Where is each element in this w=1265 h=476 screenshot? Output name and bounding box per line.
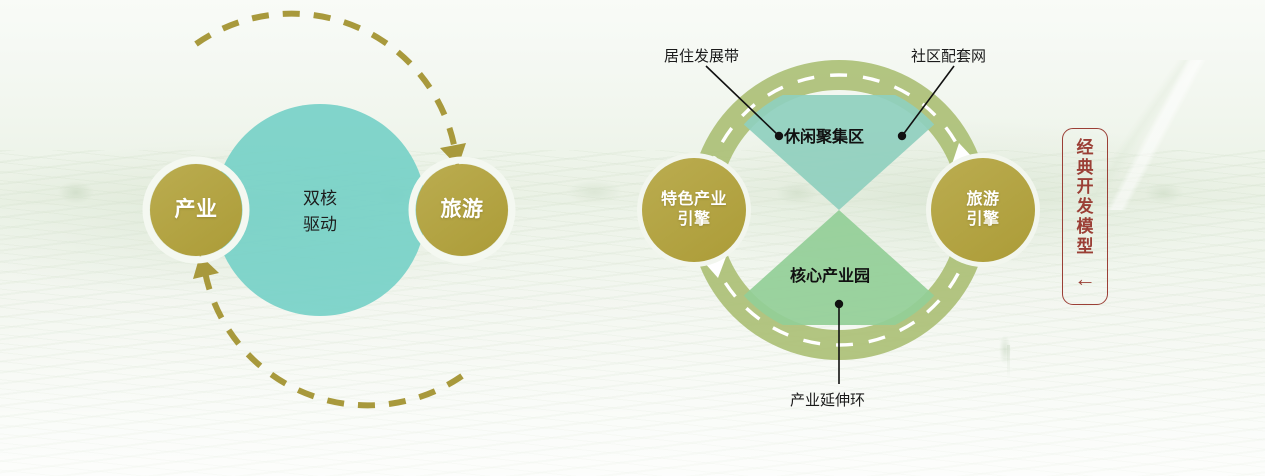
badge-left-arrow-icon[interactable]: ←: [1063, 268, 1107, 290]
badge-vertical-text: 经 典 开 发 模 型: [1063, 138, 1107, 256]
badge-char-5: 模: [1063, 217, 1107, 237]
callout-dot-industry-extension-ring: [835, 300, 843, 308]
callout-label-industry-extension-ring: 产业延伸环: [790, 392, 865, 410]
wedge-label-core-industrial-park: 核心产业园: [790, 267, 870, 286]
classic-development-model-badge[interactable]: 经 典 开 发 模 型 ←: [1062, 128, 1108, 305]
diagram-canvas: 产业 旅游 双核 驱动: [0, 0, 1265, 476]
badge-char-4: 发: [1063, 197, 1107, 217]
node-tourism-engine[interactable]: 旅游 引擎: [931, 158, 1035, 262]
badge-char-6: 型: [1063, 237, 1107, 257]
node-featured-industry-engine[interactable]: 特色产业 引擎: [642, 158, 746, 262]
badge-char-2: 典: [1063, 158, 1107, 178]
badge-char-1: 经: [1063, 138, 1107, 158]
callout-label-residential-belt: 居住发展带: [664, 48, 739, 66]
callout-dot-residential-belt: [775, 132, 783, 140]
callout-dot-community-network: [898, 132, 906, 140]
badge-char-3: 开: [1063, 177, 1107, 197]
wedge-label-leisure-cluster: 休闲聚集区: [784, 128, 864, 147]
callout-label-community-network: 社区配套网: [911, 48, 986, 66]
